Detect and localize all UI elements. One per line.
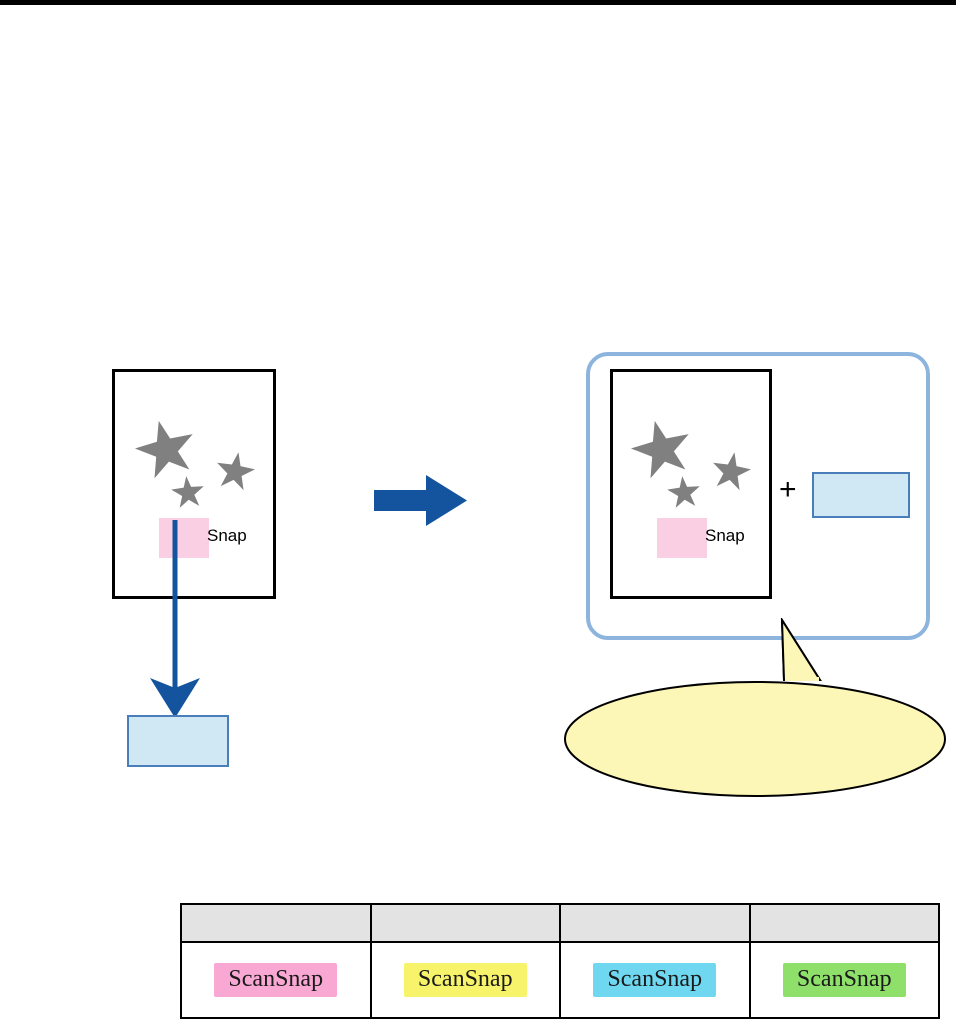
star-icon: [708, 449, 754, 495]
scansnap-sample-pink: ScanSnap: [214, 963, 337, 997]
plus-symbol: +: [779, 475, 797, 505]
table-cell-pink: ScanSnap: [181, 942, 371, 1018]
connector-arrow-icon: [150, 520, 240, 720]
highlight-legend-table: ScanSnap ScanSnap ScanSnap ScanSnap: [180, 903, 940, 1019]
star-icon: [625, 413, 700, 486]
scansnap-sample-cyan: ScanSnap: [593, 963, 716, 997]
scansnap-sample-yellow: ScanSnap: [404, 963, 527, 997]
table-header-cell-cyan: [560, 904, 750, 942]
extracted-text-box-before: [127, 715, 229, 767]
star-icon: [129, 413, 204, 486]
star-icon: [212, 449, 258, 495]
right-block-arrow-icon: [374, 475, 467, 526]
star-icon: [169, 474, 206, 511]
callout-balloon: [562, 618, 948, 798]
table-cell-yellow: ScanSnap: [371, 942, 561, 1018]
table-cell-green: ScanSnap: [750, 942, 940, 1018]
highlight-marker-swatch: [657, 518, 707, 558]
table-header-cell-pink: [181, 904, 371, 942]
table-header-row: [181, 904, 939, 942]
table-cell-cyan: ScanSnap: [560, 942, 750, 1018]
star-icon: [665, 474, 702, 511]
extracted-text-box-after: [812, 472, 910, 518]
result-document-label: Snap: [705, 526, 745, 546]
table-row: ScanSnap ScanSnap ScanSnap ScanSnap: [181, 942, 939, 1018]
table-header-cell-green: [750, 904, 940, 942]
result-document: Snap: [610, 369, 772, 599]
table-header-cell-yellow: [371, 904, 561, 942]
scansnap-sample-green: ScanSnap: [783, 963, 906, 997]
diagram-canvas: Snap Snap +: [0, 0, 956, 1024]
